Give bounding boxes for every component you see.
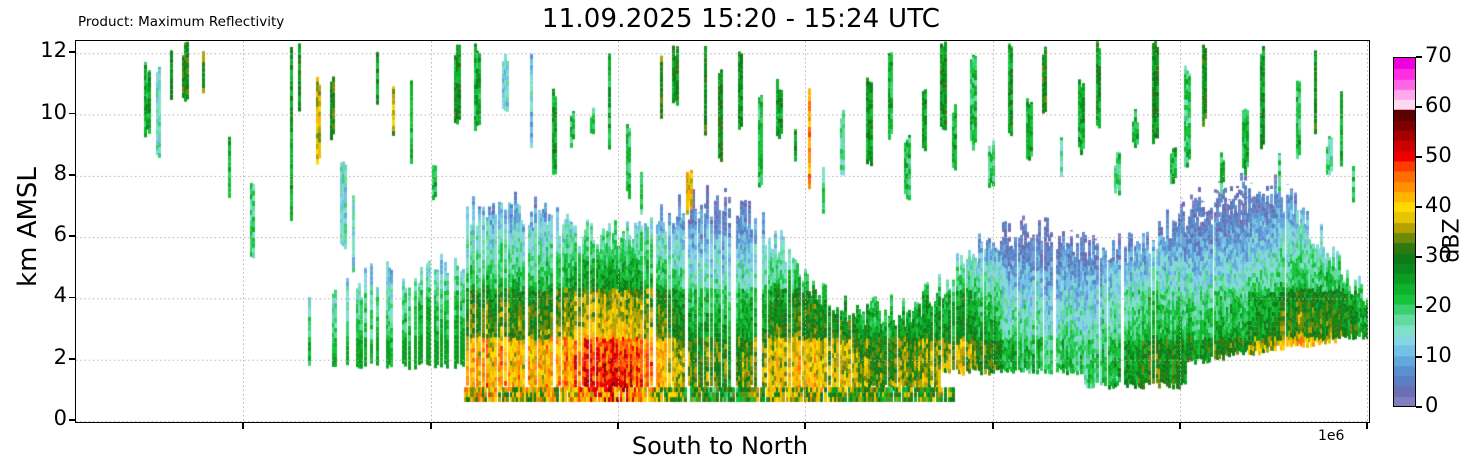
colorbar-tick-label: 10 — [1425, 343, 1452, 367]
x-tick-mark — [242, 423, 244, 429]
colorbar-tick-label: 40 — [1425, 193, 1452, 217]
y-tick-label: 6 — [33, 222, 67, 246]
x-tick-mark — [992, 423, 994, 429]
y-tick-label: 0 — [33, 406, 67, 430]
colorbar — [1393, 57, 1416, 407]
y-tick-mark — [69, 358, 75, 360]
x-tick-mark — [1366, 423, 1368, 429]
y-tick-label: 10 — [33, 100, 67, 124]
x-tick-mark — [430, 423, 432, 429]
colorbar-tick-label: 60 — [1425, 93, 1452, 117]
y-tick-label: 8 — [33, 161, 67, 185]
colorbar-tick-label: 20 — [1425, 293, 1452, 317]
colorbar-tick-mark — [1416, 156, 1422, 158]
colorbar-tick-mark — [1416, 406, 1422, 408]
y-tick-label: 12 — [33, 38, 67, 62]
colorbar-tick-mark — [1416, 356, 1422, 358]
colorbar-tick-label: 0 — [1425, 393, 1438, 417]
x-axis-offset-text: 1e6 — [1318, 428, 1344, 444]
y-tick-mark — [69, 174, 75, 176]
radar-cross-section-figure: 11.09.2025 15:20 - 15:24 UTC Product: Ma… — [0, 0, 1482, 470]
product-label: Product: Maximum Reflectivity — [78, 14, 284, 30]
colorbar-tick-mark — [1416, 306, 1422, 308]
colorbar-tick-mark — [1416, 56, 1422, 58]
colorbar-gradient — [1394, 58, 1415, 406]
colorbar-tick-mark — [1416, 106, 1422, 108]
colorbar-tick-label: 70 — [1425, 43, 1452, 67]
colorbar-tick-mark — [1416, 256, 1422, 258]
plot-area — [75, 40, 1370, 423]
y-tick-mark — [69, 419, 75, 421]
x-tick-mark — [1179, 423, 1181, 429]
colorbar-tick-mark — [1416, 206, 1422, 208]
x-tick-mark — [804, 423, 806, 429]
y-tick-mark — [69, 113, 75, 115]
y-tick-mark — [69, 235, 75, 237]
reflectivity-heatmap — [76, 41, 1368, 421]
y-tick-mark — [69, 51, 75, 53]
x-axis-label: South to North — [0, 432, 1440, 460]
colorbar-tick-label: 30 — [1425, 243, 1452, 267]
y-tick-label: 2 — [33, 345, 67, 369]
y-tick-label: 4 — [33, 283, 67, 307]
y-tick-mark — [69, 297, 75, 299]
x-tick-mark — [617, 423, 619, 429]
colorbar-tick-label: 50 — [1425, 143, 1452, 167]
